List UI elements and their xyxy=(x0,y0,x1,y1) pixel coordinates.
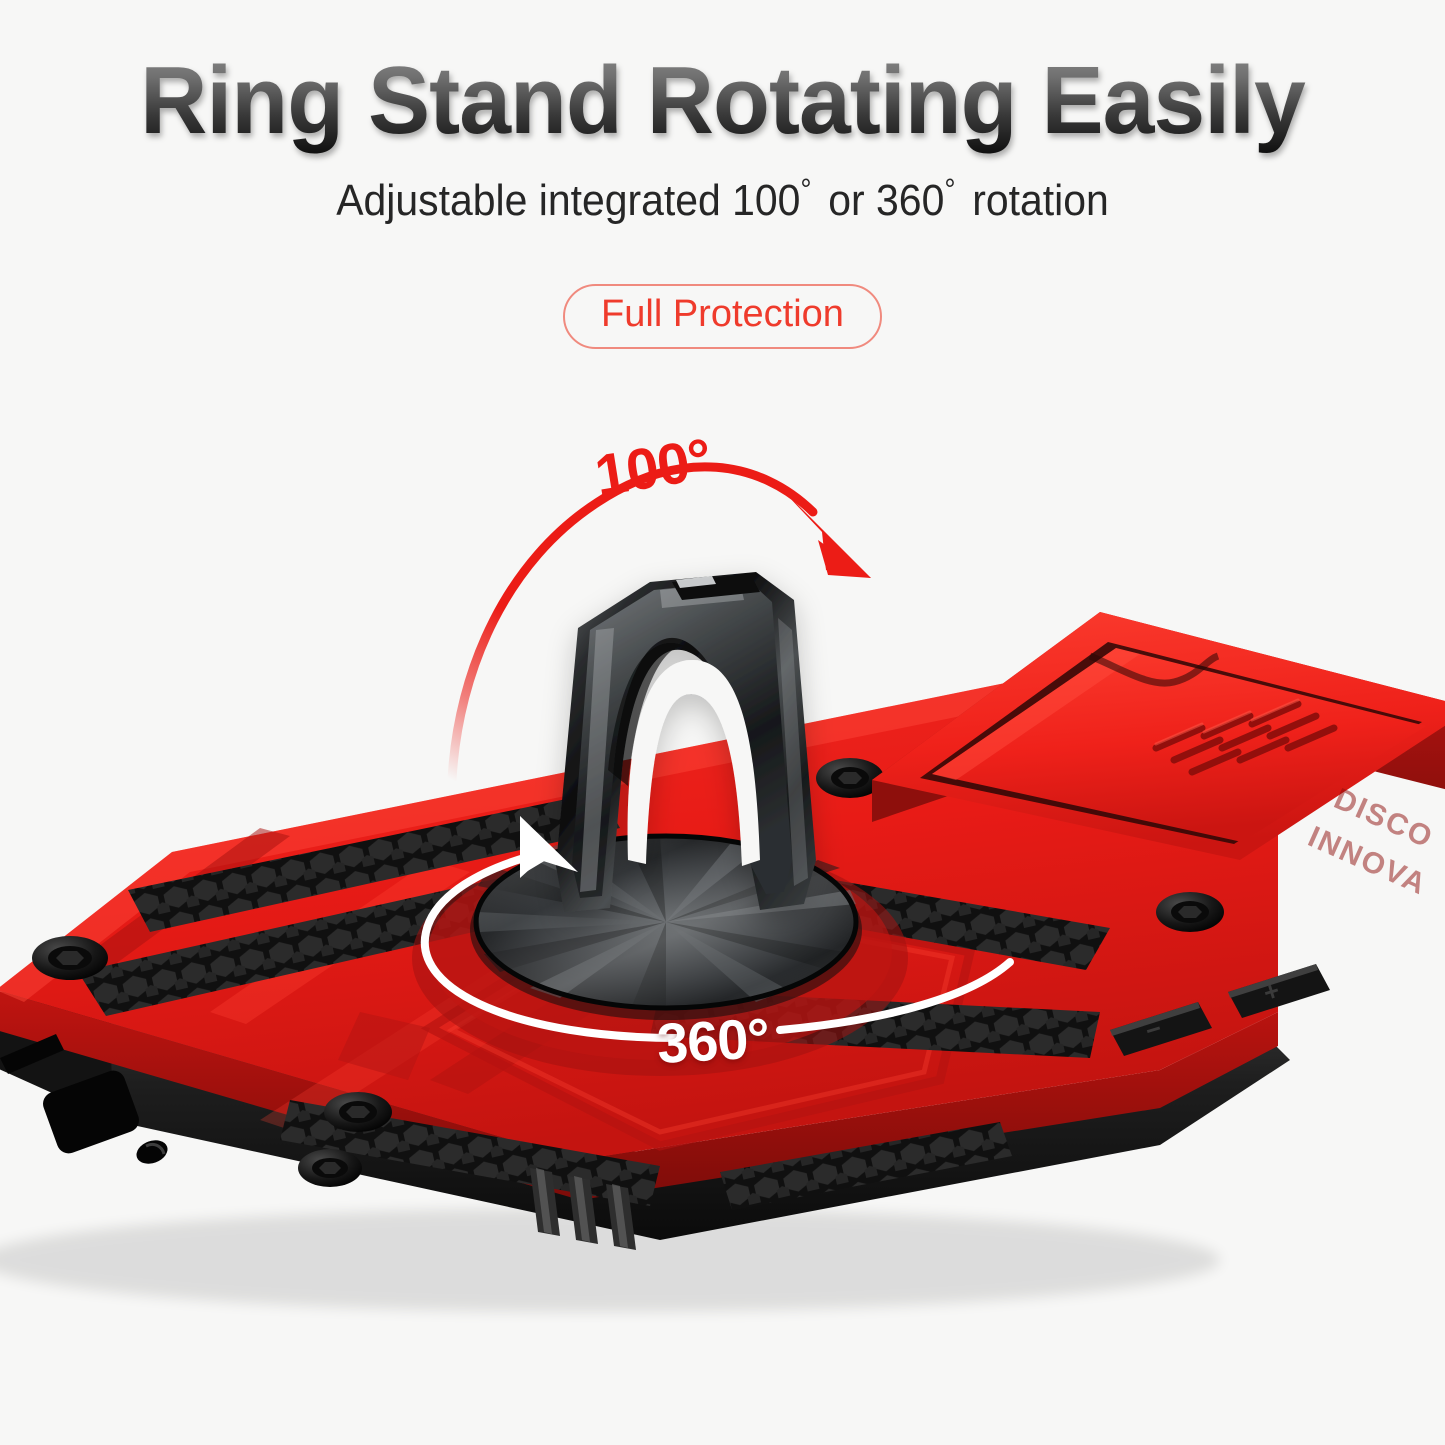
status-badge: Full Protection xyxy=(563,284,882,349)
rotation-label: 360° xyxy=(655,1005,770,1076)
degree-symbol-1: ° xyxy=(800,173,811,206)
subtitle-angle-2: 360 xyxy=(876,176,944,225)
phone-case-illustration: DISCO INNOVA xyxy=(0,560,1445,1350)
subtitle: Adjustable integrated 100°or 360°rotatio… xyxy=(51,176,1395,226)
degree-symbol-2: ° xyxy=(944,173,955,206)
subtitle-angle-1: 100 xyxy=(732,176,800,225)
subtitle-middle: or xyxy=(828,176,876,225)
subtitle-prefix: Adjustable integrated xyxy=(336,176,732,225)
phone-case-graphic: DISCO INNOVA xyxy=(0,560,1445,1350)
subtitle-suffix: rotation xyxy=(972,176,1108,225)
badge-row: Full Protection xyxy=(0,284,1445,349)
product-marketing-banner: Ring Stand Rotating Easily Adjustable in… xyxy=(0,0,1445,1445)
page-title: Ring Stand Rotating Easily xyxy=(22,46,1424,156)
